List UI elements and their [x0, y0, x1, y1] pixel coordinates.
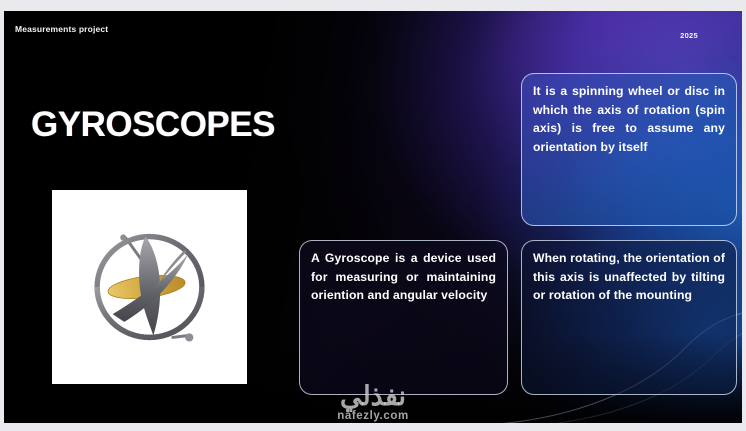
gyroscope-illustration-svg — [52, 190, 247, 384]
page-title: GYROSCOPES — [31, 107, 275, 142]
presentation-slide-frame: Measurements project 2025 GYROSCOPES — [0, 0, 746, 431]
year-label: 2025 — [680, 31, 698, 40]
gyroscope-pin-tip-bottom — [185, 333, 193, 341]
watermark-latin-text: nafezly.com — [4, 411, 742, 423]
info-card-rotating: When rotating, the orientation of this a… — [521, 240, 737, 395]
gyroscope-image — [52, 190, 247, 384]
slide-canvas: Measurements project 2025 GYROSCOPES — [4, 11, 742, 423]
info-card-definition: It is a spinning wheel or disc in which … — [521, 73, 737, 226]
project-label: Measurements project — [15, 24, 108, 34]
info-card-device: A Gyroscope is a device used for measuri… — [299, 240, 508, 395]
